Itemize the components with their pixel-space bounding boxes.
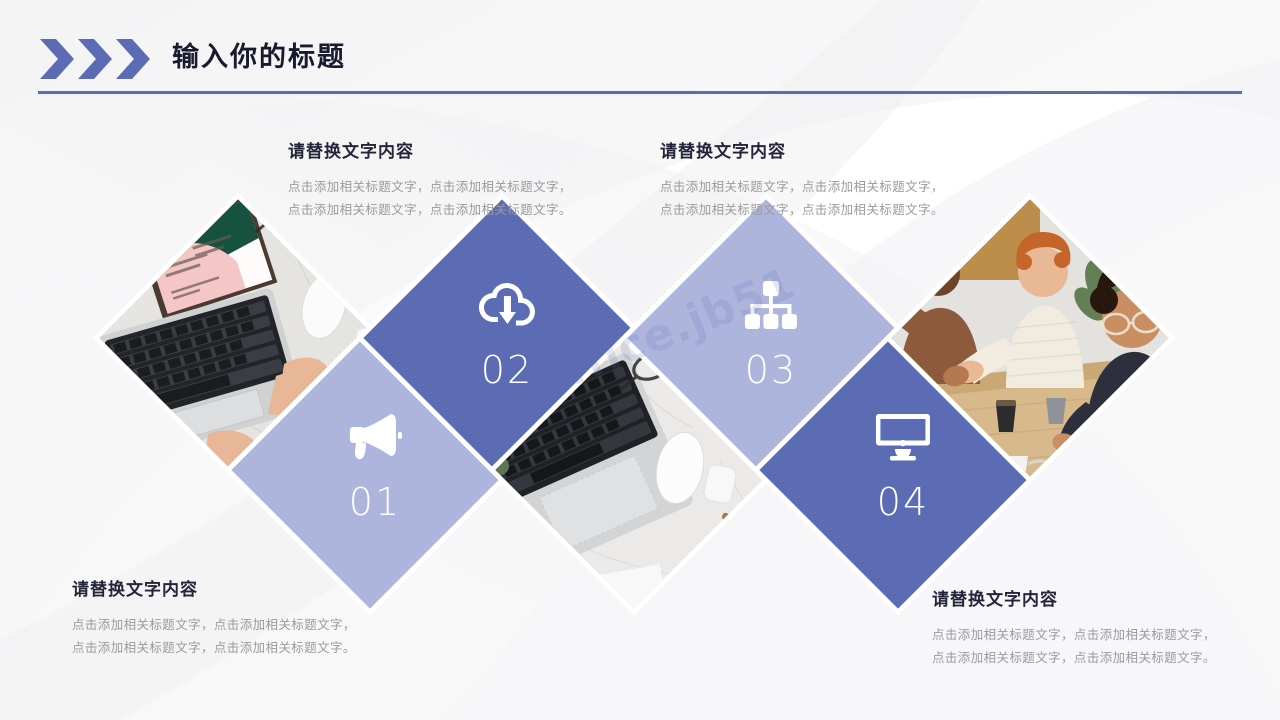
text-block-top-left: 请替换文字内容 点击添加相关标题文字，点击添加相关标题文字， 点击添加相关标题文… [288,140,598,222]
text-block-top-right-heading: 请替换文字内容 [660,140,970,164]
text-block-bottom-right: 请替换文字内容 点击添加相关标题文字，点击添加相关标题文字， 点击添加相关标题文… [932,588,1242,670]
text-block-top-left-body: 点击添加相关标题文字，点击添加相关标题文字， 点击添加相关标题文字，点击添加相关… [288,176,598,222]
text-block-bottom-left-heading: 请替换文字内容 [72,578,382,602]
text-block-bottom-left-body: 点击添加相关标题文字，点击添加相关标题文字， 点击添加相关标题文字，点击添加相关… [72,614,382,660]
text-block-bottom-right-body: 点击添加相关标题文字，点击添加相关标题文字， 点击添加相关标题文字，点击添加相关… [932,624,1242,670]
diamond-item-02-content: 02 [412,276,602,390]
body-line: 点击添加相关标题文字，点击添加相关标题文字。 [288,199,598,222]
text-block-bottom-left: 请替换文字内容 点击添加相关标题文字，点击添加相关标题文字， 点击添加相关标题文… [72,578,382,660]
sitemap-icon [676,276,866,334]
diamond-item-01-content: 01 [280,408,470,522]
body-line: 点击添加相关标题文字，点击添加相关标题文字。 [72,637,382,660]
text-block-top-right-body: 点击添加相关标题文字，点击添加相关标题文字， 点击添加相关标题文字，点击添加相关… [660,176,970,222]
cloud-download-icon [412,276,602,334]
diamond-item-04-content: 04 [808,408,998,522]
diamond-item-02-number: 02 [412,350,602,390]
diamond-item-01-number: 01 [280,482,470,522]
body-line: 点击添加相关标题文字，点击添加相关标题文字。 [660,199,970,222]
text-block-top-right: 请替换文字内容 点击添加相关标题文字，点击添加相关标题文字， 点击添加相关标题文… [660,140,970,222]
body-line: 点击添加相关标题文字，点击添加相关标题文字， [72,614,382,637]
diamond-item-03-number: 03 [676,350,866,390]
text-block-bottom-right-heading: 请替换文字内容 [932,588,1242,612]
body-line: 点击添加相关标题文字，点击添加相关标题文字， [932,624,1242,647]
body-line: 点击添加相关标题文字，点击添加相关标题文字， [660,176,970,199]
text-block-top-left-heading: 请替换文字内容 [288,140,598,164]
body-line: 点击添加相关标题文字，点击添加相关标题文字， [288,176,598,199]
diamond-item-04-number: 04 [808,482,998,522]
body-line: 点击添加相关标题文字，点击添加相关标题文字。 [932,647,1242,670]
slide-canvas: 输入你的标题 [0,0,1280,720]
diamond-item-03-content: 03 [676,276,866,390]
